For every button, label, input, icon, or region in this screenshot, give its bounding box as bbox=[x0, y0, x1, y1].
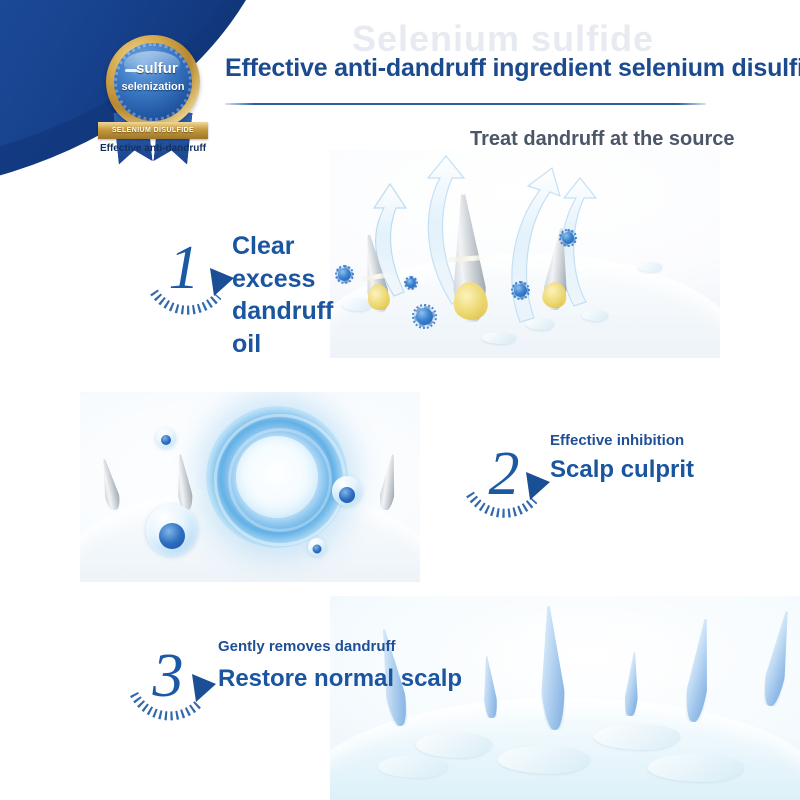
germ-icon bbox=[514, 284, 527, 297]
dandruff-flake bbox=[482, 332, 516, 344]
hair-follicle bbox=[439, 193, 496, 324]
germ-icon bbox=[406, 278, 416, 288]
infographic-page: Selenium sulfide bbox=[0, 0, 800, 800]
badge-ribbon-label: SELENIUM DISULFIDE bbox=[112, 127, 194, 134]
step-3-number: 3 bbox=[132, 630, 204, 722]
scene-inhibit-culprit bbox=[80, 392, 420, 582]
scene-excess-oil bbox=[330, 150, 720, 358]
step-3-big: Restore normal scalp bbox=[218, 664, 462, 694]
badge-footer-label: Effective anti-dandruff bbox=[94, 143, 212, 154]
page-subtitle: Treat dandruff at the source bbox=[470, 128, 735, 151]
scene-restored-scalp bbox=[330, 596, 800, 800]
badge-line2: selenization bbox=[114, 81, 192, 93]
germ-bubble bbox=[308, 538, 326, 556]
step-1-line1: Clear excess bbox=[232, 230, 333, 295]
step-3-texts: Gently removes dandruff Restore normal s… bbox=[218, 638, 462, 694]
germ-bubble bbox=[156, 428, 176, 448]
step-1-texts: Clear excess dandruff oil bbox=[232, 230, 333, 360]
germ-icon bbox=[416, 308, 433, 325]
healthy-hair-follicle bbox=[532, 605, 572, 731]
germ-bubble bbox=[146, 504, 198, 556]
germ-icon bbox=[562, 232, 574, 244]
badge-ribbon-band: SELENIUM DISULFIDE bbox=[98, 122, 208, 139]
step-1-marker: 1 bbox=[148, 222, 240, 314]
seal-badge: sulfur selenization SELENIUM DISULFIDE E… bbox=[96, 33, 210, 163]
step-2-texts: Effective inhibition Scalp culprit bbox=[550, 432, 694, 485]
energy-vortex bbox=[206, 406, 348, 548]
step-1-number: 1 bbox=[148, 222, 220, 314]
badge-gold-ring: sulfur selenization bbox=[106, 35, 200, 129]
dandruff-flake bbox=[638, 262, 662, 272]
step-2-number: 2 bbox=[468, 428, 540, 520]
badge-line1: sulfur bbox=[136, 60, 192, 77]
step-1-line2: dandruff oil bbox=[232, 295, 333, 360]
step-2-big: Scalp culprit bbox=[550, 455, 694, 485]
page-title: Effective anti-dandruff ingredient selen… bbox=[225, 54, 800, 83]
step-3-marker: 3 bbox=[132, 630, 224, 722]
germ-bubble bbox=[332, 476, 362, 506]
dandruff-flake bbox=[582, 310, 608, 321]
badge-blue-face: sulfur selenization bbox=[114, 43, 192, 121]
step-2-marker: 2 bbox=[468, 428, 560, 520]
title-divider bbox=[225, 103, 706, 105]
step-3-small: Gently removes dandruff bbox=[218, 638, 462, 656]
germ-icon bbox=[338, 268, 351, 281]
step-2-small: Effective inhibition bbox=[550, 432, 694, 450]
